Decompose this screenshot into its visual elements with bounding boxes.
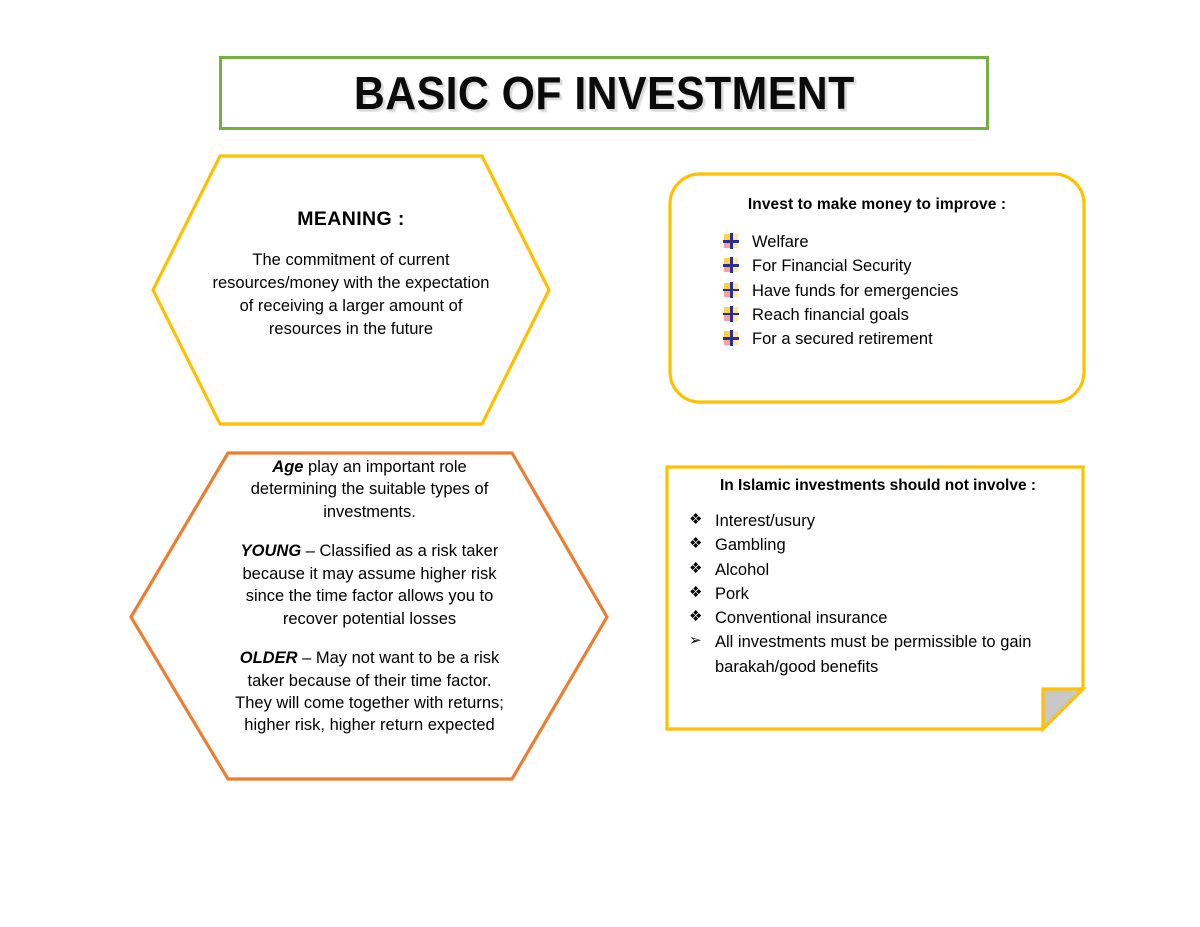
diamond-bullet-icon: ❖ bbox=[689, 558, 715, 581]
list-item: ➢ All investments must be permissible to… bbox=[689, 630, 1067, 679]
list-item-label: Welfare bbox=[752, 230, 809, 254]
invest-callout-box: Invest to make money to improve : Welfar… bbox=[668, 172, 1086, 404]
age-paragraph: Age play an important role determining t… bbox=[232, 456, 507, 523]
title-banner: BASIC OF INVESTMENT bbox=[219, 56, 989, 130]
list-item: ❖ Conventional insurance bbox=[689, 606, 1067, 630]
list-item: For Financial Security bbox=[690, 254, 1064, 278]
diamond-bullet-icon: ❖ bbox=[689, 606, 715, 629]
islamic-prohibited-list: ❖ Interest/usury ❖ Gambling ❖ Alcohol ❖ … bbox=[689, 509, 1067, 679]
islamic-text-block: In Islamic investments should not involv… bbox=[689, 477, 1067, 679]
colored-cross-bullet-icon bbox=[724, 258, 738, 272]
folded-corner-icon bbox=[1043, 689, 1083, 729]
colored-cross-bullet-icon bbox=[724, 283, 738, 297]
invest-text-block: Invest to make money to improve : Welfar… bbox=[690, 196, 1064, 351]
age-paragraph: OLDER – May not want to be a risk taker … bbox=[232, 647, 507, 737]
list-item: ❖ Gambling bbox=[689, 533, 1067, 557]
list-item: ❖ Alcohol bbox=[689, 558, 1067, 582]
list-item-label: For a secured retirement bbox=[752, 327, 933, 351]
list-item: Welfare bbox=[690, 230, 1064, 254]
age-paragraph: YOUNG – Classified as a risk taker becau… bbox=[232, 540, 507, 630]
list-item-label: Conventional insurance bbox=[715, 606, 1067, 630]
age-paragraph-lead: OLDER bbox=[240, 649, 298, 667]
invest-heading: Invest to make money to improve : bbox=[690, 196, 1064, 214]
list-item-label: Pork bbox=[715, 582, 1067, 606]
colored-cross-bullet-icon bbox=[724, 331, 738, 345]
list-item-label: For Financial Security bbox=[752, 254, 912, 278]
list-item-label: Alcohol bbox=[715, 558, 1067, 582]
islamic-heading: In Islamic investments should not involv… bbox=[689, 477, 1067, 495]
colored-cross-bullet-icon bbox=[724, 307, 738, 321]
age-paragraph-lead: YOUNG bbox=[241, 542, 302, 560]
list-item: For a secured retirement bbox=[690, 327, 1064, 351]
meaning-hexagon: MEANING : The commitment of current reso… bbox=[150, 150, 552, 430]
meaning-heading: MEANING : bbox=[205, 208, 497, 231]
page-title: BASIC OF INVESTMENT bbox=[354, 70, 855, 116]
list-item-label: Have funds for emergencies bbox=[752, 279, 958, 303]
diamond-bullet-icon: ❖ bbox=[689, 582, 715, 605]
list-item: Reach financial goals bbox=[690, 303, 1064, 327]
invest-benefit-list: Welfare For Financial Security Have fund… bbox=[690, 230, 1064, 351]
age-text-block: Age play an important role determining t… bbox=[232, 456, 507, 737]
diamond-bullet-icon: ❖ bbox=[689, 509, 715, 532]
diamond-bullet-icon: ❖ bbox=[689, 533, 715, 556]
meaning-body: The commitment of current resources/mone… bbox=[205, 249, 497, 340]
islamic-folded-box: In Islamic investments should not involv… bbox=[665, 465, 1085, 731]
list-item: ❖ Pork bbox=[689, 582, 1067, 606]
list-item-label: Reach financial goals bbox=[752, 303, 909, 327]
list-item-label: Interest/usury bbox=[715, 509, 1067, 533]
arrow-bullet-icon: ➢ bbox=[689, 630, 715, 653]
list-item-label: Gambling bbox=[715, 533, 1067, 557]
age-paragraph-lead: Age bbox=[272, 458, 303, 476]
list-item: ❖ Interest/usury bbox=[689, 509, 1067, 533]
meaning-text-block: MEANING : The commitment of current reso… bbox=[205, 208, 497, 340]
list-item-label: All investments must be permissible to g… bbox=[715, 630, 1067, 679]
age-hexagon: Age play an important role determining t… bbox=[128, 448, 610, 784]
slide-canvas: BASIC OF INVESTMENT MEANING : The commit… bbox=[0, 0, 1200, 927]
list-item: Have funds for emergencies bbox=[690, 279, 1064, 303]
colored-cross-bullet-icon bbox=[724, 234, 738, 248]
